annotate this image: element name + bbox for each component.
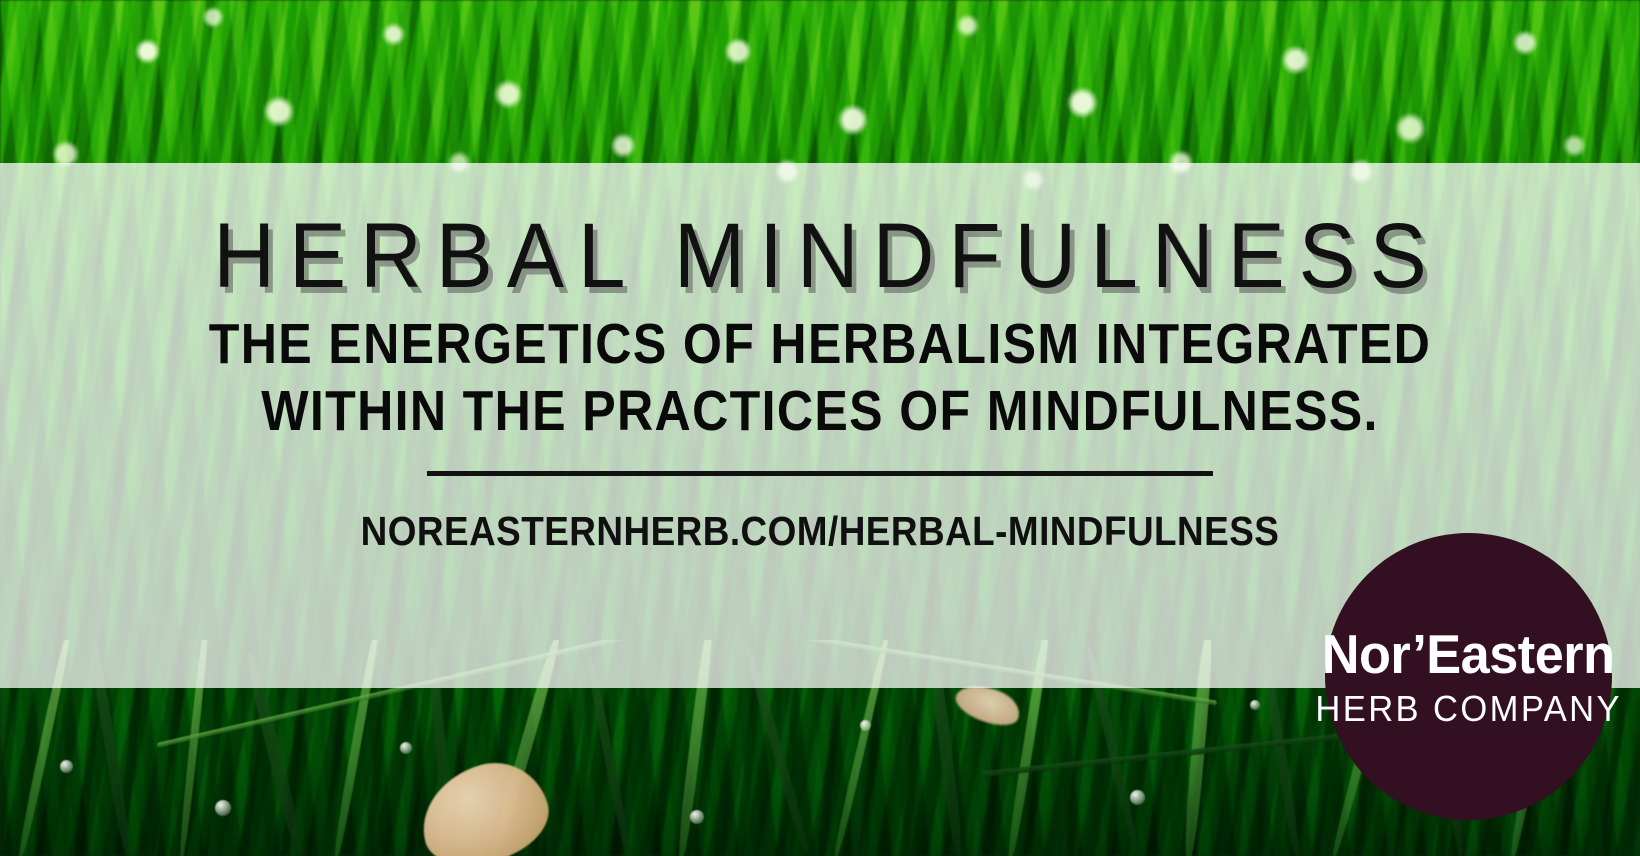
logo-tagline: HERB COMPANY	[1315, 691, 1622, 727]
logo-brand-name: Nor’Eastern	[1322, 627, 1615, 682]
website-url[interactable]: NOREASTERNHERB.COM/HERBAL-MINDFULNESS	[82, 508, 1558, 555]
divider-rule	[427, 471, 1213, 476]
dew-drop	[860, 720, 871, 731]
dew-drop	[1130, 790, 1145, 805]
page-title: HERBAL MINDFULNESS	[57, 163, 1582, 301]
promo-banner: HERBAL MINDFULNESS THE ENERGETICS OF HER…	[0, 0, 1640, 856]
dew-drop	[690, 810, 704, 824]
dew-drop	[60, 760, 73, 773]
logo-badge[interactable]: Nor’Eastern HERB COMPANY	[1325, 533, 1612, 820]
dew-drop	[400, 742, 412, 754]
subtitle: THE ENERGETICS OF HERBALISM INTEGRATED W…	[98, 311, 1541, 444]
dew-drop	[215, 800, 231, 816]
subtitle-line-2: WITHIN THE PRACTICES OF MINDFULNESS.	[261, 379, 1379, 443]
subtitle-line-1: THE ENERGETICS OF HERBALISM INTEGRATED	[209, 312, 1431, 376]
dew-drop	[1250, 700, 1260, 710]
